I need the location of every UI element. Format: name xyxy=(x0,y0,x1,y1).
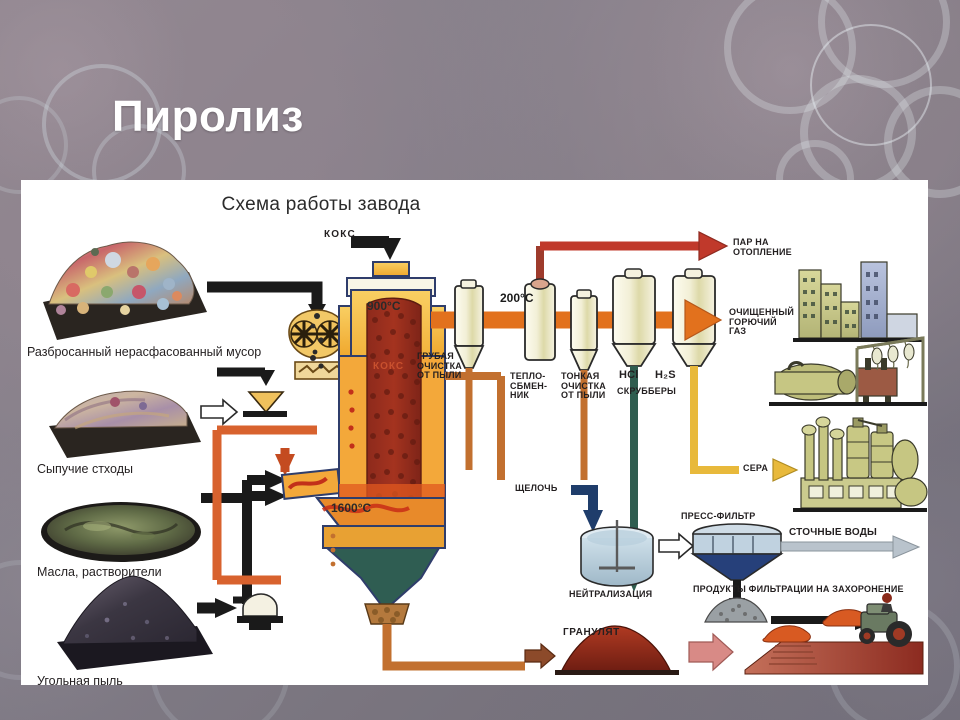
input-image-bulk xyxy=(49,391,201,458)
label-press-filter: ПРЕСС-ФИЛЬТР xyxy=(681,512,755,522)
slide: Пиролиз Схема работы завода xyxy=(0,0,960,720)
label-input-oils: Масла, растворители xyxy=(37,566,162,580)
consumer-city xyxy=(793,262,923,342)
sulfur-out-arrow xyxy=(773,459,797,481)
input-image-oils xyxy=(41,502,201,562)
input-image-trash xyxy=(43,242,207,340)
unit-h2s-scrubber xyxy=(673,269,739,470)
bg-ring xyxy=(818,0,950,88)
label-h2s: H₂S xyxy=(655,370,676,382)
label-output-gas: ОЧИЩЕННЫЙ ГОРЮЧИЙ ГАЗ xyxy=(729,308,794,337)
bg-ring xyxy=(724,0,856,114)
label-input-bulk: Сыпучие стходы xyxy=(37,463,133,477)
crusher xyxy=(289,310,345,358)
input-image-coal xyxy=(57,576,213,670)
process-diagram xyxy=(21,180,928,685)
label-input-coal: Угольная пыль xyxy=(37,675,123,685)
label-neutralization: НЕЙТРАЛИЗАЦИЯ xyxy=(569,590,652,600)
consumer-power-station xyxy=(769,338,927,406)
label-reactor-top-temp: 900°C xyxy=(367,300,401,313)
feed-arrow-bulk xyxy=(201,370,287,424)
label-hcl: HCl xyxy=(619,370,639,382)
label-heat-exchanger: ТЕПЛО- СБМЕН- НИК xyxy=(510,372,547,401)
alkali-feed xyxy=(571,490,603,532)
label-coke-bed: КОКС xyxy=(373,362,404,373)
consumer-chemical-plant xyxy=(793,417,927,512)
label-output-sulfur: СЕРА xyxy=(743,464,768,474)
label-input-trash: Разбросанный нерасфасованный мусор xyxy=(27,346,261,360)
to-press-filter-arrow xyxy=(659,534,693,558)
label-alkali: ЩЕЛОЧЬ xyxy=(515,484,557,494)
label-filtration-products: ПРОДУКТЫ ФИЛЬТРАЦИИ НА ЗАХОРОНЕНИЕ xyxy=(693,585,904,595)
label-reactor-bottom-temp: 1600°C xyxy=(331,502,371,515)
label-waste-water: СТОЧНЫЕ ВОДЫ xyxy=(789,528,877,539)
feed-arrow-coal xyxy=(197,594,283,630)
label-fine-dust-cleaning: ТОНКАЯ ОЧИСТКА ОТ ПЫЛИ xyxy=(561,372,606,401)
diagram-panel: Схема работы завода xyxy=(21,180,928,685)
unit-neutralization xyxy=(581,520,653,586)
burner-box xyxy=(282,469,340,499)
page-title: Пиролиз xyxy=(112,92,304,142)
label-granulate: ГРАНУЛЯТ xyxy=(563,628,620,639)
label-coke-feed: КОКС xyxy=(324,230,356,241)
bg-ring xyxy=(800,75,916,191)
label-coarse-dust-cleaning: ГРУБАЯ ОЧИСТКА ОТ ПЫЛИ xyxy=(417,352,462,381)
waste-water-line xyxy=(781,536,919,558)
reactor-vessel xyxy=(317,238,525,666)
steam-line xyxy=(540,232,727,260)
tractor xyxy=(859,593,912,647)
label-scrubbers: СКРУББЕРЫ xyxy=(617,387,676,397)
label-temp-200: 200°C xyxy=(500,292,534,305)
bg-ring xyxy=(810,24,932,146)
label-output-steam: ПАР НА ОТОПЛЕНИЕ xyxy=(733,238,792,257)
